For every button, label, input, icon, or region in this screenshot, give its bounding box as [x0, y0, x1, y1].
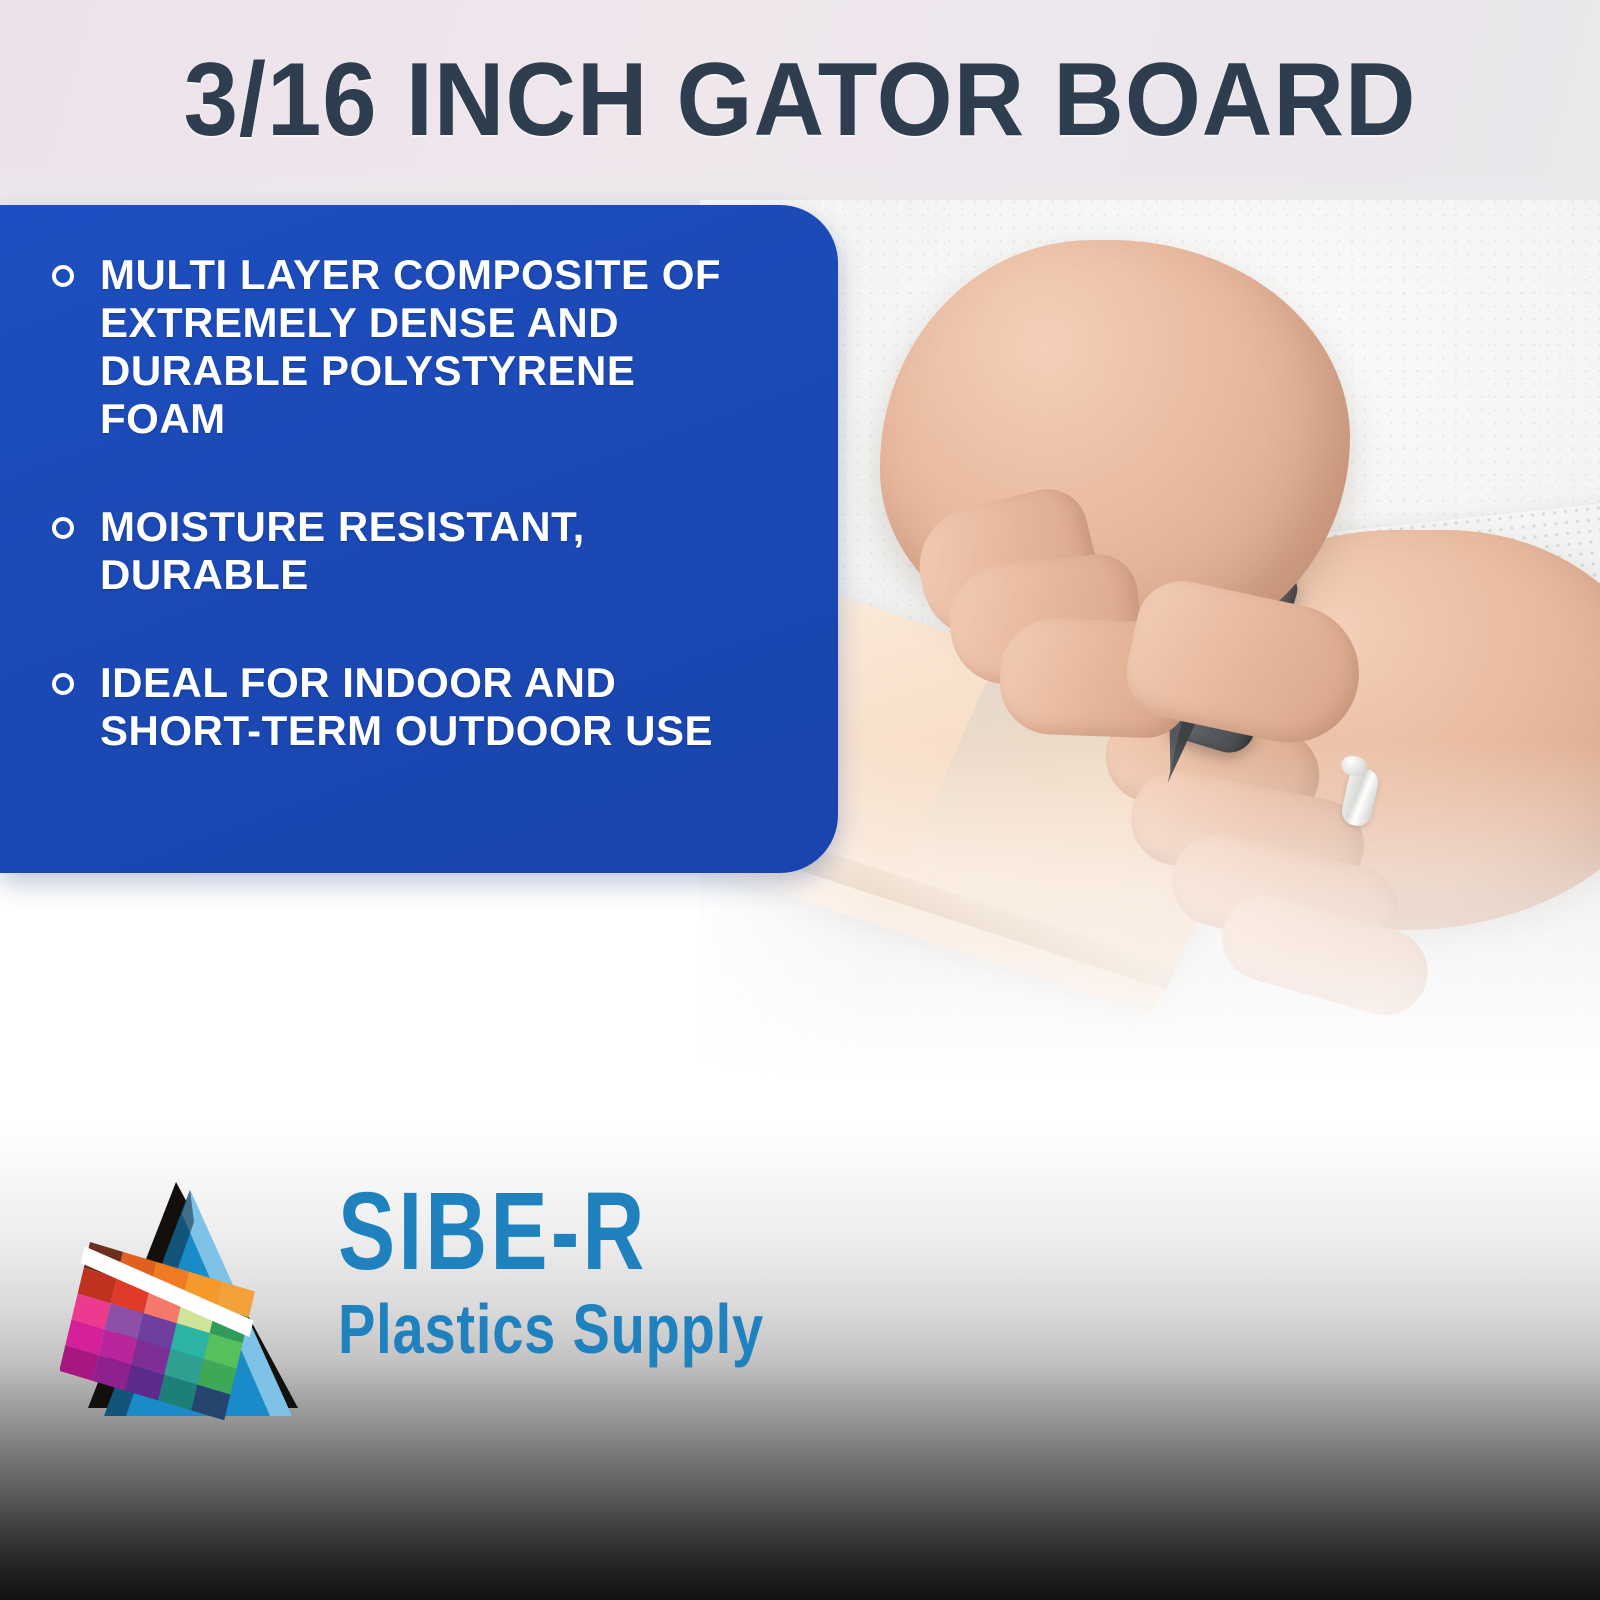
feature-text: MOISTURE RESISTANT, DURABLE [100, 503, 760, 599]
list-item: MOISTURE RESISTANT, DURABLE [52, 503, 768, 599]
brand-tagline: Plastics Supply [338, 1292, 764, 1366]
hollow-circle-bullet-icon [52, 265, 74, 287]
features-panel: MULTI LAYER COMPOSITE OF EXTREMELY DENSE… [0, 205, 838, 873]
feature-text: MULTI LAYER COMPOSITE OF EXTREMELY DENSE… [100, 251, 760, 443]
feature-text: IDEAL FOR INDOOR AND SHORT-TERM OUTDOOR … [100, 659, 760, 755]
brand-name: SIBE-R [338, 1178, 753, 1286]
list-item: MULTI LAYER COMPOSITE OF EXTREMELY DENSE… [52, 251, 768, 443]
list-item: IDEAL FOR INDOOR AND SHORT-TERM OUTDOOR … [52, 659, 768, 755]
page-title: 3/16 INCH GATOR BOARD [48, 48, 1552, 152]
hollow-circle-bullet-icon [52, 673, 74, 695]
triangle-color-swatch-logo-icon [60, 1170, 310, 1420]
brand-text: SIBE-R Plastics Supply [338, 1178, 870, 1366]
hollow-circle-bullet-icon [52, 517, 74, 539]
features-list: MULTI LAYER COMPOSITE OF EXTREMELY DENSE… [52, 251, 768, 755]
product-poster: 3/16 INCH GATOR BOARD X-ACTO [0, 0, 1600, 1600]
brand-logo-block: SIBE-R Plastics Supply [60, 1170, 780, 1430]
